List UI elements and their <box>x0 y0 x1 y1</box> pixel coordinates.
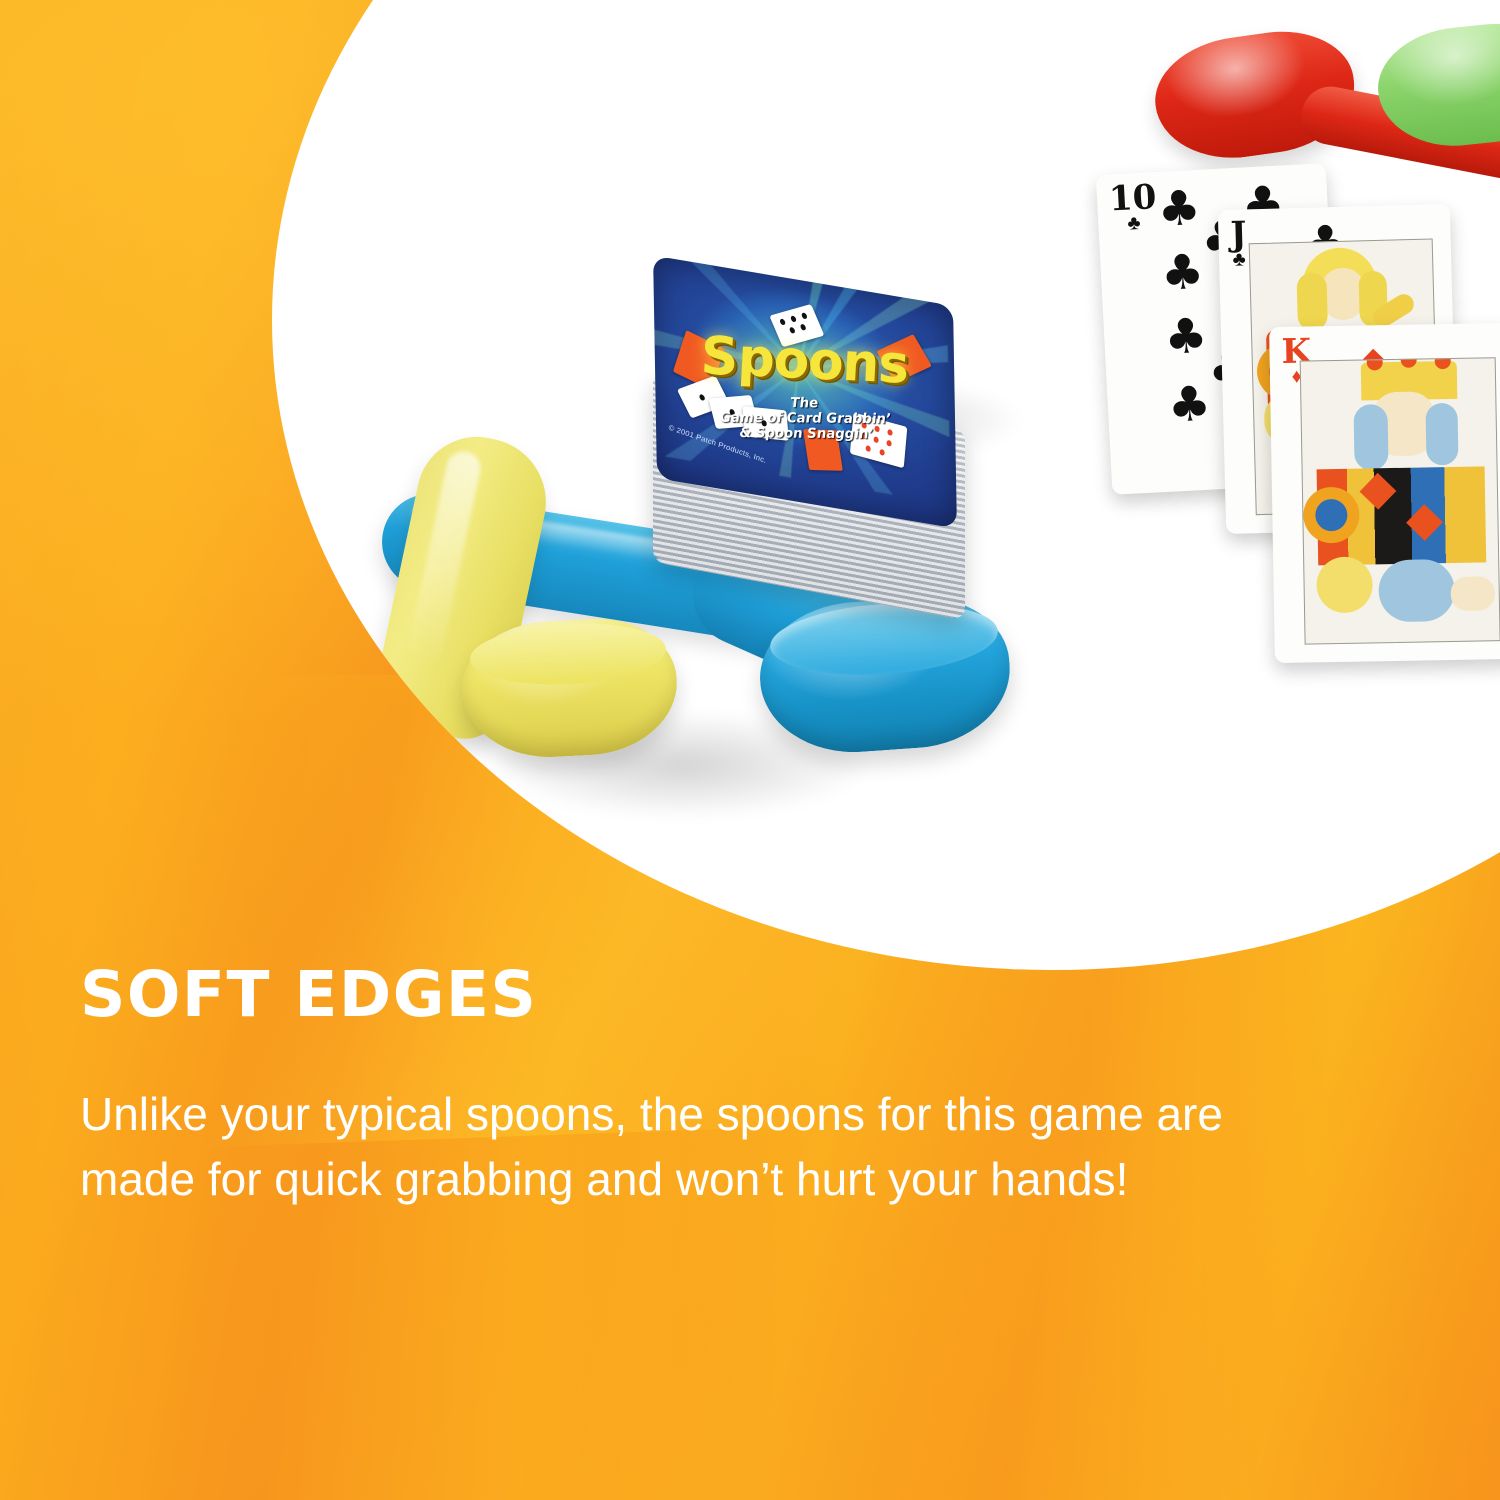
deck-subtitle: The Game of Card Grabbin’ & Spoon Snaggi… <box>705 395 905 443</box>
clubs-icon: ♣ <box>1231 249 1248 269</box>
body-text: Unlike your typical spoons, the spoons f… <box>80 1082 1330 1213</box>
product-photo: Spoons The Game of Card Grabbin’ & Spoon… <box>272 0 1500 970</box>
headline: SOFT EDGES <box>80 963 1360 1026</box>
product-feature-card: Spoons The Game of Card Grabbin’ & Spoon… <box>0 0 1500 1500</box>
court-card-art <box>1300 357 1500 644</box>
card-corner-index: J ♣ <box>1230 217 1247 269</box>
deck-title: Spoons <box>697 326 911 396</box>
clubs-icon: ♣ <box>1167 380 1212 430</box>
playing-card-king-diamonds: K ♦ ◆ <box>1269 323 1500 663</box>
caption-block: SOFT EDGES Unlike your typical spoons, t… <box>80 963 1360 1213</box>
deck-subtitle-line-3: & Spoon Snaggin’ <box>739 425 874 442</box>
clubs-icon: ♣ <box>1163 312 1208 362</box>
product-photo-plate: Spoons The Game of Card Grabbin’ & Spoon… <box>272 0 1500 970</box>
card-rank: J <box>1230 217 1247 251</box>
king-illustration <box>1301 358 1500 643</box>
clubs-icon: ♣ <box>1160 248 1205 298</box>
card-deck: Spoons The Game of Card Grabbin’ & Spoon… <box>645 281 975 586</box>
clubs-icon: ♣ <box>1156 184 1201 234</box>
deck-subtitle-line-1: The <box>790 395 819 412</box>
